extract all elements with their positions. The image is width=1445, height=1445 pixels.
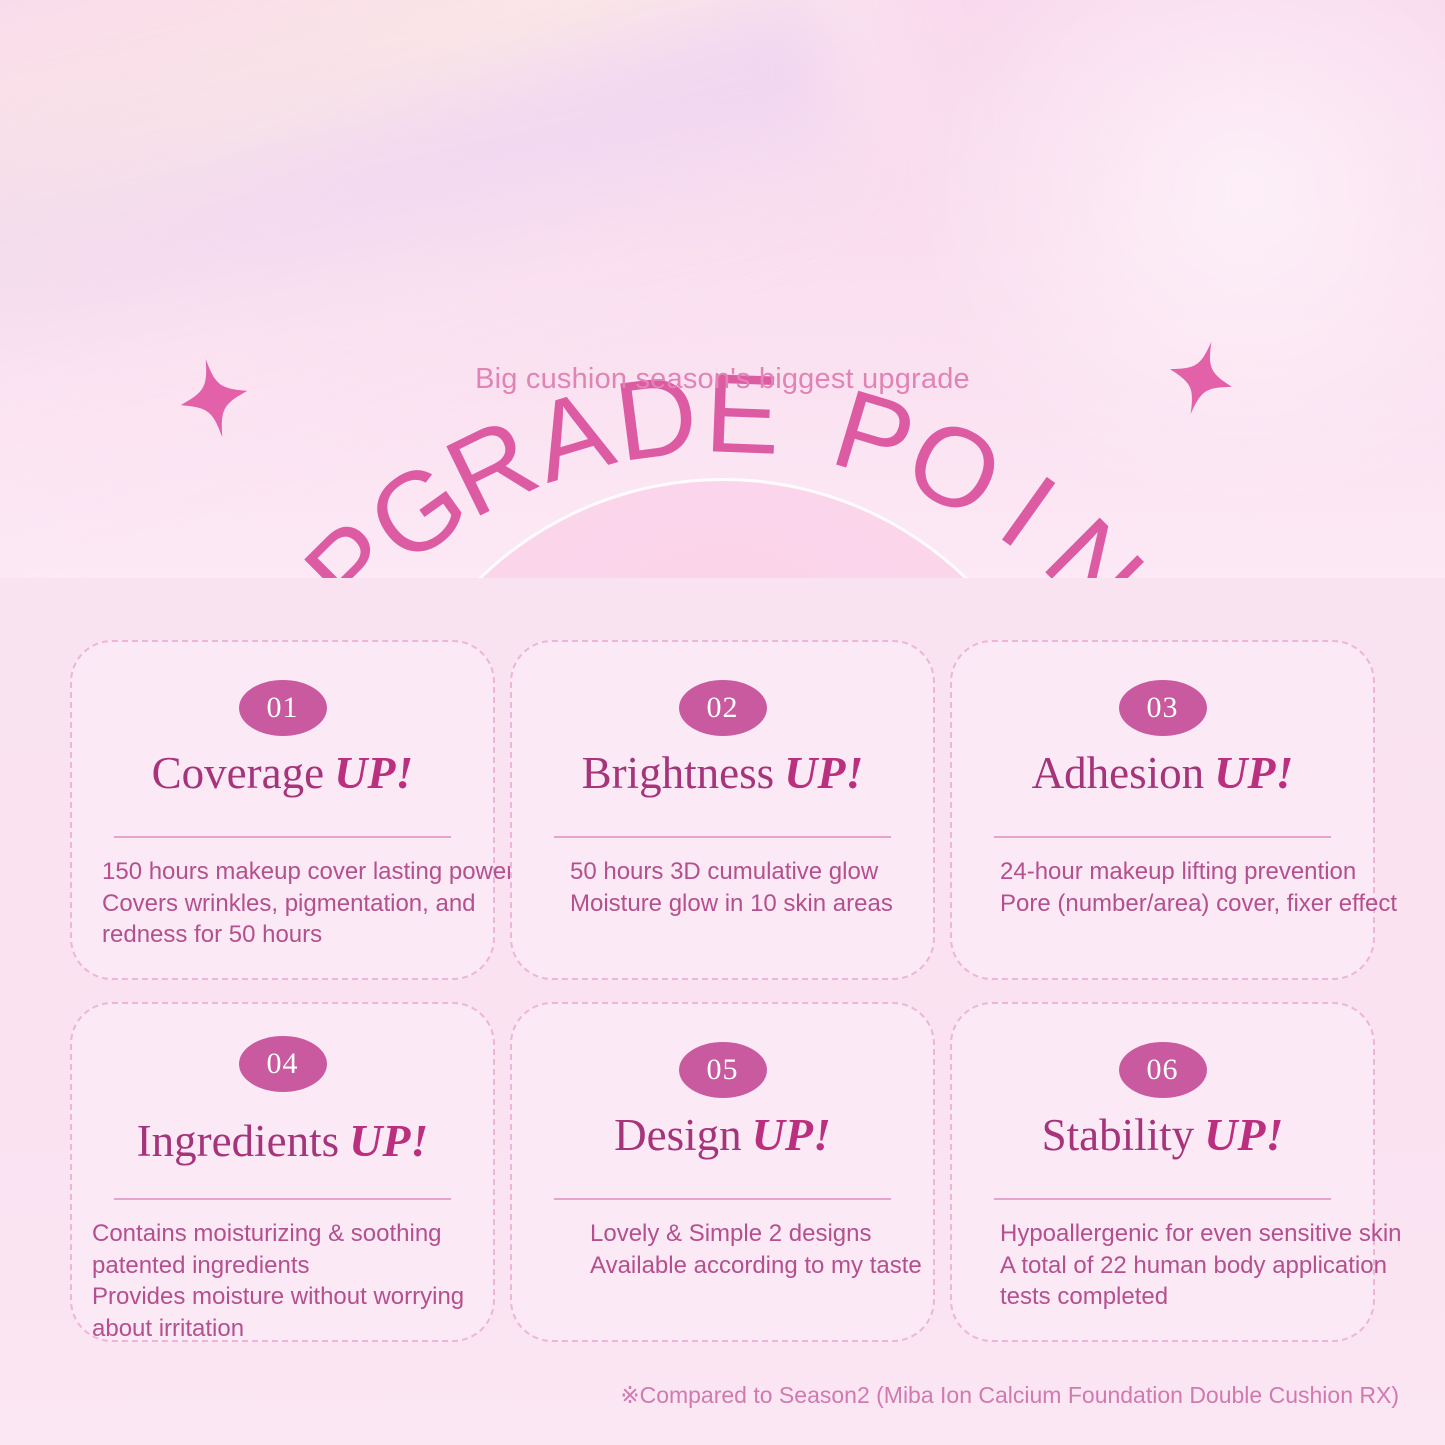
card-number-badge: 06 xyxy=(1119,1042,1207,1098)
upgrade-card[interactable]: 04 IngredientsUP! Contains moisturizing … xyxy=(70,1002,495,1342)
card-description: 24-hour makeup lifting prevention Pore (… xyxy=(1000,856,1361,919)
card-description-line: redness for 50 hours xyxy=(102,919,493,951)
card-description-line: 50 hours 3D cumulative glow xyxy=(570,856,921,888)
card-description-line: Available according to my taste xyxy=(590,1250,921,1282)
card-description-line: Provides moisture without worrying about… xyxy=(92,1281,503,1344)
hero-glow xyxy=(865,0,1445,500)
card-divider xyxy=(994,1198,1331,1200)
card-up-label: UP! xyxy=(349,1115,428,1166)
card-title: AdhesionUP! xyxy=(952,748,1373,799)
card-description: 50 hours 3D cumulative glow Moisture glo… xyxy=(570,856,921,919)
card-up-label: UP! xyxy=(334,747,413,798)
card-description-line: Contains moisturizing & soothing patente… xyxy=(92,1218,503,1281)
upgrade-card[interactable]: 06 StabilityUP! Hypoallergenic for even … xyxy=(950,1002,1375,1342)
card-title: StabilityUP! xyxy=(952,1110,1373,1161)
card-divider xyxy=(554,836,891,838)
card-description-line: tests completed xyxy=(1000,1281,1361,1313)
card-number-badge: 04 xyxy=(239,1036,327,1092)
card-description-line: Hypoallergenic for even sensitive skin xyxy=(1000,1218,1361,1250)
card-up-label: UP! xyxy=(752,1109,831,1160)
upgrade-cards-grid: 01 CoverageUP! 150 hours makeup cover la… xyxy=(70,640,1375,1342)
card-description-line: Pore (number/area) cover, fixer effect xyxy=(1000,888,1361,920)
card-title: DesignUP! xyxy=(512,1110,933,1161)
card-description: Lovely & Simple 2 designs Available acco… xyxy=(590,1218,921,1281)
card-title-text: Ingredients xyxy=(137,1116,339,1166)
card-number-badge: 03 xyxy=(1119,680,1207,736)
card-title-text: Adhesion xyxy=(1032,748,1205,798)
card-number-badge: 02 xyxy=(679,680,767,736)
upgrade-point-page: UPGRADE POINT Big cushion season's bigge… xyxy=(0,0,1445,1445)
card-divider xyxy=(994,836,1331,838)
upgrade-card[interactable]: 05 DesignUP! Lovely & Simple 2 designs A… xyxy=(510,1002,935,1342)
card-description-line: Moisture glow in 10 skin areas xyxy=(570,888,921,920)
hero-banner: UPGRADE POINT Big cushion season's bigge… xyxy=(0,0,1445,578)
card-up-label: UP! xyxy=(1204,1109,1283,1160)
card-up-label: UP! xyxy=(1214,747,1293,798)
card-description: 150 hours makeup cover lasting power Cov… xyxy=(102,856,493,951)
card-description: Contains moisturizing & soothing patente… xyxy=(92,1218,503,1345)
footnote: ※Compared to Season2 (Miba Ion Calcium F… xyxy=(620,1382,1399,1409)
upgrade-card[interactable]: 02 BrightnessUP! 50 hours 3D cumulative … xyxy=(510,640,935,980)
card-title: BrightnessUP! xyxy=(512,748,933,799)
card-description-line: 24-hour makeup lifting prevention xyxy=(1000,856,1361,888)
card-title-text: Stability xyxy=(1042,1110,1195,1160)
card-description-line: Covers wrinkles, pigmentation, and xyxy=(102,888,493,920)
card-description-line: 150 hours makeup cover lasting power xyxy=(102,856,493,888)
card-title-text: Brightness xyxy=(582,748,775,798)
hero-dome-shape xyxy=(373,478,1073,578)
card-number-badge: 01 xyxy=(239,680,327,736)
card-description-line: A total of 22 human body application xyxy=(1000,1250,1361,1282)
upgrade-points-section: 01 CoverageUP! 150 hours makeup cover la… xyxy=(0,578,1445,1445)
card-description: Hypoallergenic for even sensitive skin A… xyxy=(1000,1218,1361,1313)
card-divider xyxy=(114,836,451,838)
card-title: CoverageUP! xyxy=(72,748,493,799)
card-title-text: Design xyxy=(614,1110,742,1160)
card-divider xyxy=(114,1198,451,1200)
card-description-line: Lovely & Simple 2 designs xyxy=(590,1218,921,1250)
upgrade-card[interactable]: 03 AdhesionUP! 24-hour makeup lifting pr… xyxy=(950,640,1375,980)
sparkle-star-icon xyxy=(178,356,250,440)
sparkle-star-icon xyxy=(1167,338,1235,418)
upgrade-card[interactable]: 01 CoverageUP! 150 hours makeup cover la… xyxy=(70,640,495,980)
card-number-badge: 05 xyxy=(679,1042,767,1098)
card-divider xyxy=(554,1198,891,1200)
card-up-label: UP! xyxy=(784,747,863,798)
card-title: IngredientsUP! xyxy=(72,1116,493,1167)
card-title-text: Coverage xyxy=(152,748,324,798)
